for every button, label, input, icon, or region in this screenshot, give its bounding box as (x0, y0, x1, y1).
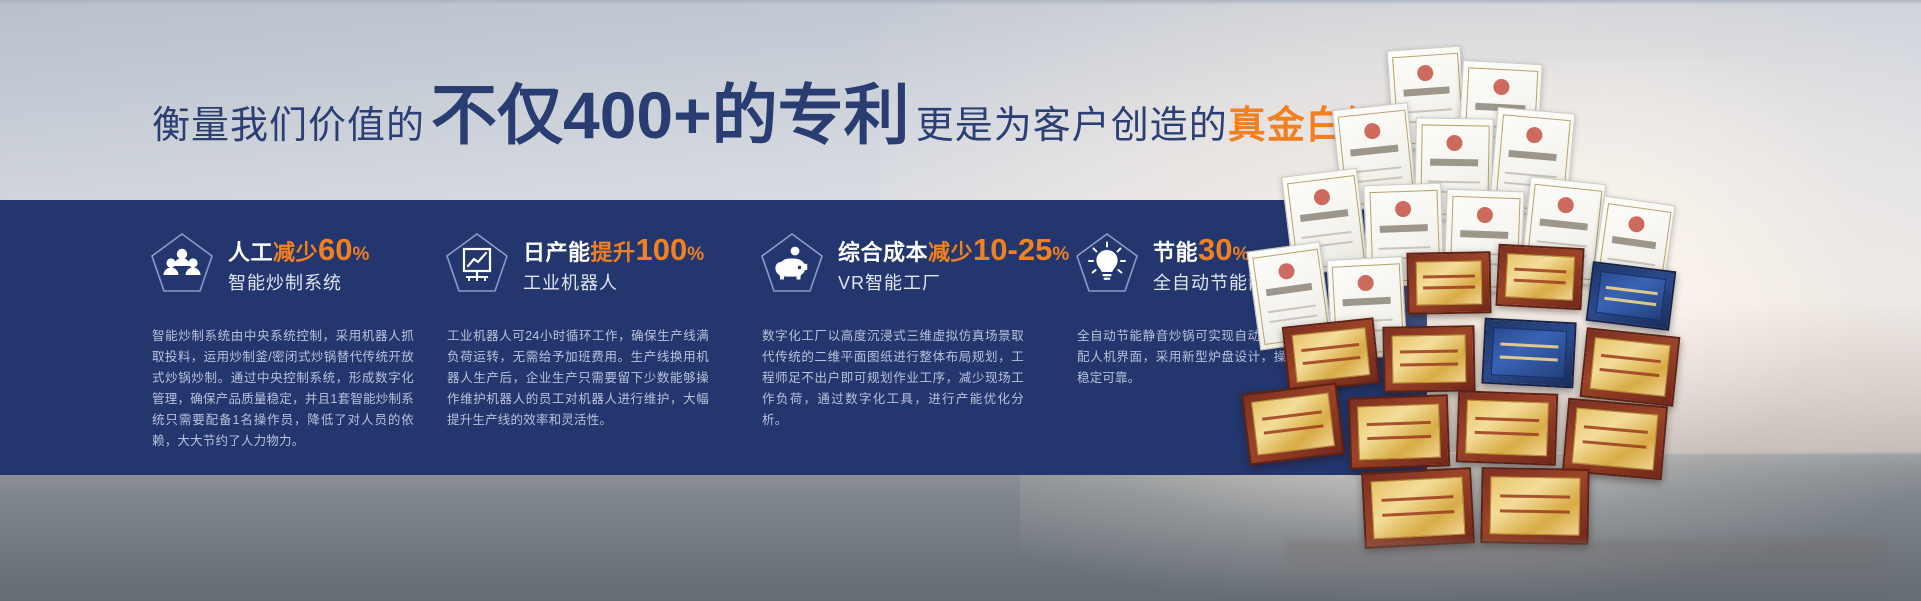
top-edge-shadow (0, 0, 1921, 5)
award-plaque (1456, 390, 1558, 465)
award-plaque (1241, 382, 1345, 465)
award-plaque (1586, 261, 1677, 331)
feature-headtext-0: 人工减少60% 智能炒制系统 (228, 232, 369, 292)
feature-column-0: 人工减少60% 智能炒制系统 智能炒制系统由中央系统控制，采用机器人抓取投料，运… (150, 200, 470, 475)
headline-emphasis: 不仅400+的专利 (425, 82, 916, 148)
headline-middle: 更是为客户创造的 (916, 107, 1228, 145)
feature-stat-2: 综合成本减少10-25% (838, 234, 1069, 265)
feature-header-2: 综合成本减少10-25% VR智能工厂 (760, 232, 1069, 294)
stat-number-0: 60 (318, 232, 352, 267)
piggy-bank-icon (760, 232, 824, 294)
award-plaque (1282, 317, 1380, 392)
stat-accent-2: 减少 (928, 240, 973, 265)
team-people-icon (150, 232, 214, 294)
lightbulb-icon (1075, 232, 1139, 294)
stat-accent-0: 减少 (273, 240, 318, 265)
headline-prefix: 衡量我们价值的 (152, 107, 425, 145)
stat-accent-1: 提升 (591, 240, 636, 265)
chart-board-icon (445, 232, 509, 294)
feature-stat-1: 日产能提升100% (523, 234, 704, 265)
stat-number-3: 30 (1198, 232, 1232, 267)
award-plaque (1406, 251, 1491, 314)
stat-lead-2: 综合成本 (838, 240, 928, 265)
feature-panel: 人工减少60% 智能炒制系统 智能炒制系统由中央系统控制，采用机器人抓取投料，运… (0, 200, 1427, 475)
feature-header-0: 人工减少60% 智能炒制系统 (150, 232, 369, 294)
feature-body-2: 数字化工厂以高度沉浸式三维虚拟仿真场景取代传统的二维平面图纸进行整体布局规划，工… (762, 326, 1024, 431)
award-plaque (1348, 394, 1450, 469)
stat-unit-0: % (353, 244, 370, 265)
stat-number-1: 100 (636, 232, 688, 267)
stat-lead-1: 日产能 (523, 240, 591, 265)
award-plaque (1361, 467, 1475, 549)
stat-number-2: 10-25 (973, 232, 1052, 267)
certificate-floor-reflection (1285, 540, 1885, 600)
stat-lead-3: 节能 (1153, 240, 1198, 265)
feature-subtitle-2: VR智能工厂 (838, 274, 1069, 292)
feature-body-1: 工业机器人可24小时循环工作，确保生产线满负荷运转，无需给予加班费用。生产线换用… (447, 326, 709, 431)
feature-headtext-1: 日产能提升100% 工业机器人 (523, 232, 704, 292)
certificate-wall (1245, 40, 1921, 570)
stat-lead-0: 人工 (228, 240, 273, 265)
feature-headtext-2: 综合成本减少10-25% VR智能工厂 (838, 232, 1069, 292)
stat-unit-2: % (1052, 244, 1069, 265)
award-plaque (1480, 467, 1589, 545)
feature-body-0: 智能炒制系统由中央系统控制，采用机器人抓取投料，运用炒制釜/密闭式炒锅替代传统开… (152, 326, 414, 452)
promo-banner: 衡量我们价值的 不仅400+的专利 更是为客户创造的 真金白银的效益 (0, 0, 1921, 601)
feature-header-1: 日产能提升100% 工业机器人 (445, 232, 704, 294)
feature-column-1: 日产能提升100% 工业机器人 工业机器人可24小时循环工作，确保生产线满负荷运… (445, 200, 765, 475)
feature-column-2: 综合成本减少10-25% VR智能工厂 数字化工厂以高度沉浸式三维虚拟仿真场景取… (760, 200, 1080, 475)
stat-unit-1: % (687, 244, 704, 265)
award-plaque (1481, 318, 1576, 389)
award-plaque (1382, 325, 1475, 393)
feature-subtitle-1: 工业机器人 (523, 274, 704, 292)
feature-subtitle-0: 智能炒制系统 (228, 274, 369, 292)
feature-stat-0: 人工减少60% (228, 234, 369, 265)
award-plaque (1495, 244, 1584, 310)
award-plaque (1580, 327, 1681, 406)
